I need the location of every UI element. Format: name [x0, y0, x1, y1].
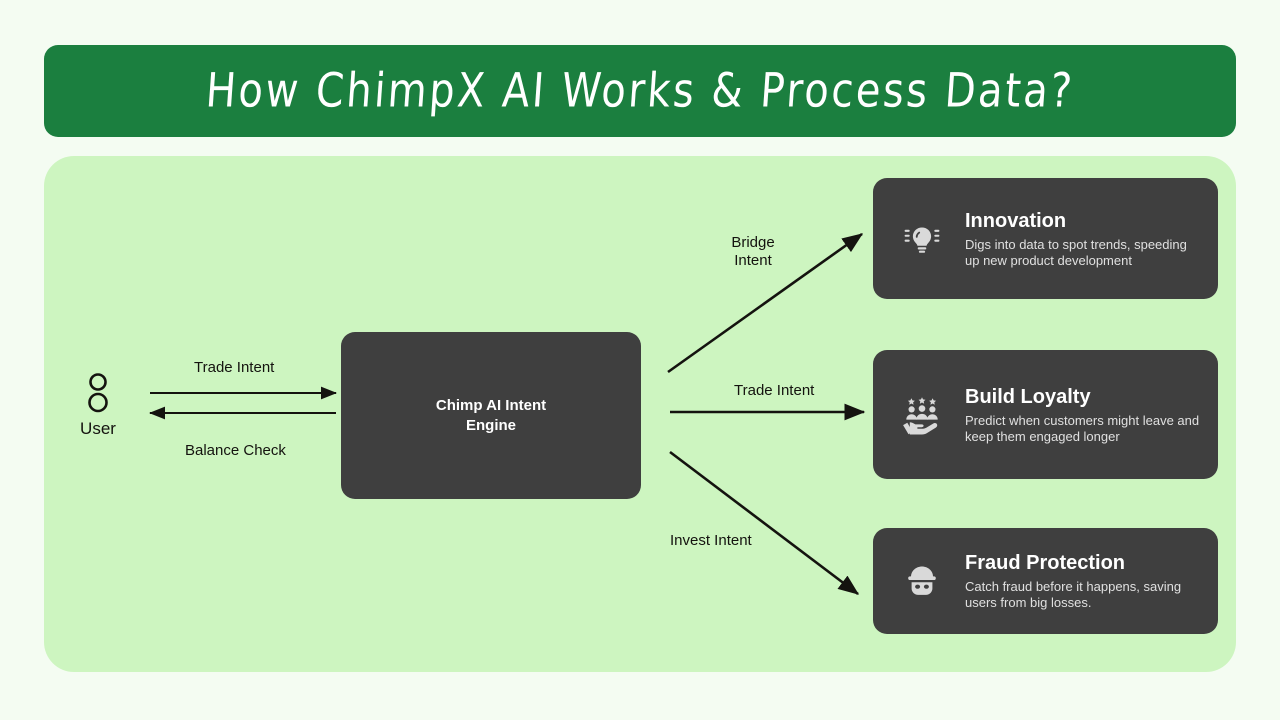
page-title: How ChimpX AI Works & Process Data? — [204, 64, 1076, 118]
engine-node[interactable]: Chimp AI Intent Engine — [341, 332, 641, 499]
outcome-card-fraud-protection[interactable]: Fraud Protection Catch fraud before it h… — [873, 528, 1218, 634]
engine-node-label: Chimp AI Intent Engine — [436, 396, 546, 436]
edge-label-invest-intent: Invest Intent — [670, 532, 752, 550]
outcome-card-fraud-protection-title: Fraud Protection — [965, 551, 1204, 575]
outcome-card-innovation-text: Innovation Digs into data to spot trends… — [953, 209, 1204, 269]
user-icon — [83, 372, 113, 414]
header-banner: How ChimpX AI Works & Process Data? — [44, 45, 1236, 137]
hand-holding-people-stars-icon — [891, 384, 953, 446]
outcome-card-fraud-protection-description: Catch fraud before it happens, saving us… — [965, 579, 1204, 611]
user-node-label: User — [66, 419, 130, 439]
outcome-card-innovation-title: Innovation — [965, 209, 1204, 233]
edge-label-trade-intent-out: Trade Intent — [734, 382, 814, 400]
edge-label-bridge-intent: Bridge Intent — [718, 234, 788, 270]
outcome-card-build-loyalty-text: Build Loyalty Predict when customers mig… — [953, 385, 1204, 445]
outcome-card-innovation-description: Digs into data to spot trends, speeding … — [965, 237, 1204, 269]
outcome-card-innovation[interactable]: Innovation Digs into data to spot trends… — [873, 178, 1218, 299]
thief-mask-icon — [891, 550, 953, 612]
outcome-card-build-loyalty[interactable]: Build Loyalty Predict when customers mig… — [873, 350, 1218, 479]
edge-label-trade-intent-in: Trade Intent — [194, 359, 274, 377]
lightbulb-icon — [891, 208, 953, 270]
user-node[interactable]: User — [66, 372, 130, 439]
edge-label-balance-check: Balance Check — [185, 442, 286, 460]
outcome-card-build-loyalty-title: Build Loyalty — [965, 385, 1204, 409]
outcome-card-fraud-protection-text: Fraud Protection Catch fraud before it h… — [953, 551, 1204, 611]
outcome-card-build-loyalty-description: Predict when customers might leave and k… — [965, 413, 1204, 445]
